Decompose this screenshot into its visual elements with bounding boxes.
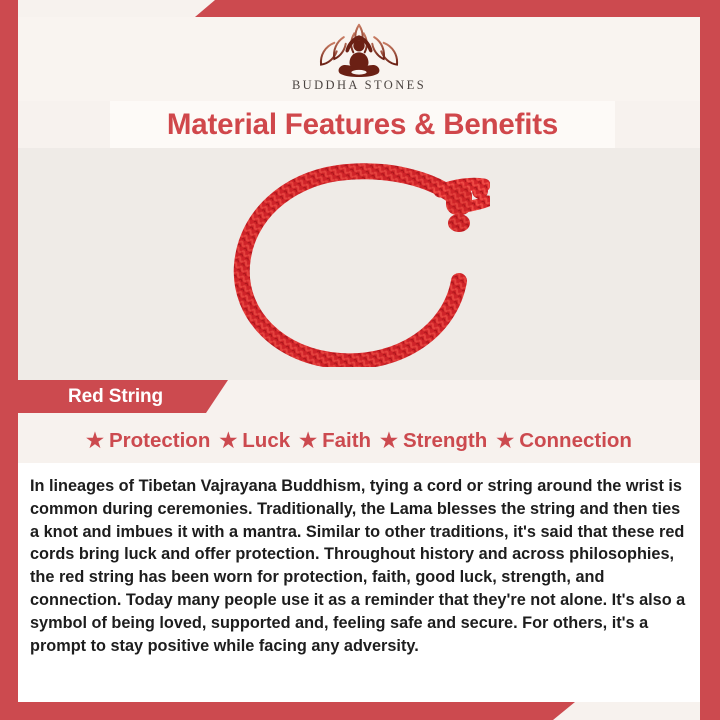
product-label-text: Red String: [18, 386, 163, 408]
star-icon: ★: [380, 431, 398, 451]
benefit-item-luck: ★ Luck: [219, 429, 290, 453]
product-label-banner: Red String: [18, 380, 228, 413]
brand-name: BUDDHA STONES: [292, 78, 426, 93]
star-icon: ★: [219, 431, 237, 451]
description-panel: In lineages of Tibetan Vajrayana Buddhis…: [18, 463, 700, 702]
frame-top-right-bar: [195, 0, 720, 17]
frame-bottom-bar: [0, 702, 575, 720]
benefit-label: Strength: [403, 429, 487, 453]
benefits-row: ★ Protection ★ Luck ★ Faith ★ Strength ★…: [18, 419, 700, 463]
benefit-label: Faith: [322, 429, 371, 453]
benefit-item-connection: ★ Connection: [496, 429, 632, 453]
benefit-label: Connection: [519, 429, 632, 453]
benefit-label: Protection: [109, 429, 210, 453]
star-icon: ★: [86, 431, 104, 451]
brand-header: BUDDHA STONES: [18, 17, 700, 101]
product-photo-band: [18, 148, 700, 380]
benefit-item-protection: ★ Protection: [86, 429, 210, 453]
page-title: Material Features & Benefits: [167, 108, 558, 142]
page-canvas: BUDDHA STONES Material Features & Benefi…: [18, 17, 700, 702]
description-text: In lineages of Tibetan Vajrayana Buddhis…: [30, 475, 686, 658]
benefit-item-faith: ★ Faith: [299, 429, 371, 453]
star-icon: ★: [496, 431, 514, 451]
frame-left-bar: [0, 0, 18, 705]
benefit-label: Luck: [242, 429, 290, 453]
lotus-meditation-icon: [305, 21, 413, 77]
frame-right-bar: [700, 15, 720, 720]
red-string-bracelet-image: [228, 161, 490, 367]
star-icon: ★: [299, 431, 317, 451]
benefit-item-strength: ★ Strength: [380, 429, 487, 453]
headline-banner: Material Features & Benefits: [110, 101, 615, 148]
